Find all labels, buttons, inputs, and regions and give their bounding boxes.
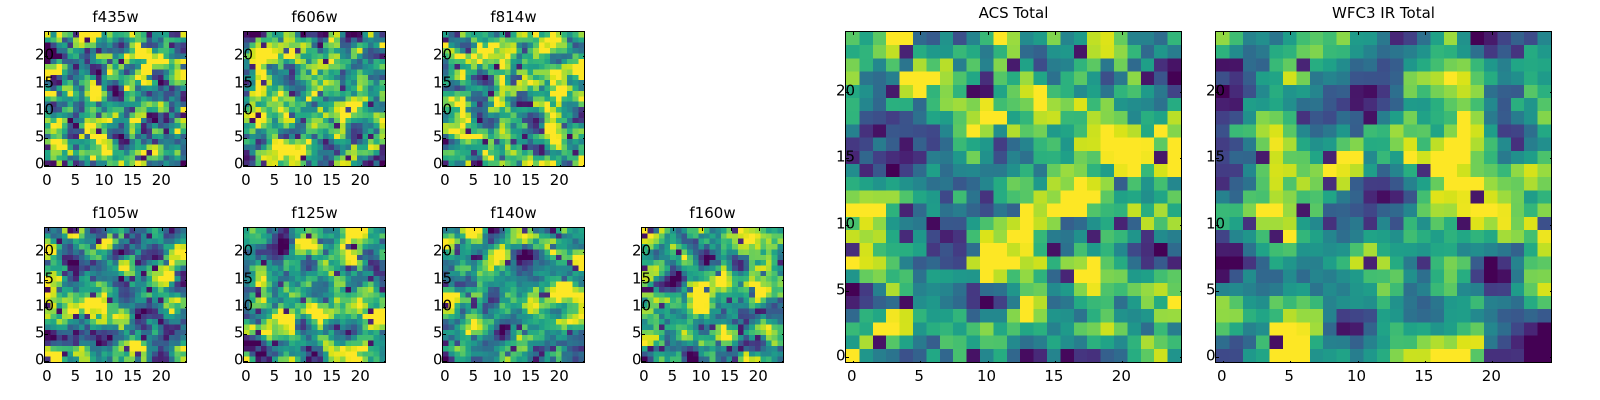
x-tick-f814w-0: [446, 165, 447, 167]
heatmap-f140w: [442, 227, 585, 363]
y-tick-right-f814w-0: [583, 165, 585, 166]
y-tick-right-acs-total-10: [1180, 225, 1182, 226]
x-tick-f125w-0: [247, 361, 248, 363]
x-tick-wfc3-ir-total-10: [1358, 361, 1359, 363]
heatmap-f125w: [243, 227, 386, 363]
heatmap-canvas-f435w: [45, 32, 186, 166]
x-ticklabel-f606w-5: 5: [270, 173, 280, 188]
x-tick-top-f160w-0: [645, 228, 646, 231]
x-ticklabel-f125w-0: 0: [241, 369, 251, 384]
y-tick-right-f606w-15: [384, 84, 386, 85]
x-tick-top-f125w-5: [275, 228, 276, 231]
x-tick-f140w-5: [474, 361, 475, 363]
panel-f160w: f160w0510152005101520: [641, 227, 784, 363]
x-tick-acs-total-15: [1055, 361, 1056, 363]
y-tick-right-wfc3-ir-total-15: [1550, 158, 1552, 159]
heatmap-canvas-f140w: [443, 228, 584, 362]
y-tick-right-acs-total-20: [1180, 92, 1182, 93]
heatmap-canvas-f125w: [244, 228, 385, 362]
y-tick-right-f160w-20: [782, 252, 784, 253]
y-tick-right-f814w-5: [583, 138, 585, 139]
x-tick-top-f140w-15: [532, 228, 533, 231]
y-tick-f160w-5: [642, 334, 645, 335]
x-tick-top-f435w-0: [48, 32, 49, 35]
y-tick-right-f160w-0: [782, 361, 784, 362]
x-tick-acs-total-5: [920, 361, 921, 363]
x-tick-f606w-5: [275, 165, 276, 167]
y-tick-f606w-5: [244, 138, 247, 139]
x-tick-f105w-10: [105, 361, 106, 363]
x-tick-f814w-5: [474, 165, 475, 167]
x-ticklabel-f105w-20: 20: [152, 369, 171, 384]
x-tick-top-acs-total-10: [988, 32, 989, 35]
y-tick-f125w-0: [244, 361, 247, 362]
x-ticklabel-f125w-15: 15: [322, 369, 341, 384]
y-tick-f160w-0: [642, 361, 645, 362]
x-tick-top-f814w-15: [532, 32, 533, 35]
y-tick-right-f105w-10: [185, 307, 187, 308]
y-tick-right-f435w-15: [185, 84, 187, 85]
y-tick-f140w-0: [443, 361, 446, 362]
x-tick-f105w-5: [76, 361, 77, 363]
x-ticklabel-f606w-20: 20: [351, 173, 370, 188]
y-tick-right-f140w-5: [583, 334, 585, 335]
x-tick-f125w-10: [304, 361, 305, 363]
x-ticklabel-f125w-10: 10: [294, 369, 313, 384]
panel-title-acs-total: ACS Total: [845, 5, 1182, 22]
x-tick-top-f160w-15: [731, 228, 732, 231]
x-tick-top-f105w-15: [134, 228, 135, 231]
x-ticklabel-f105w-5: 5: [71, 369, 81, 384]
x-ticklabel-acs-total-20: 20: [1112, 369, 1131, 384]
panel-f606w: f606w0510152005101520: [243, 31, 386, 167]
y-tick-right-f125w-10: [384, 307, 386, 308]
x-tick-top-f435w-5: [76, 32, 77, 35]
x-tick-f125w-15: [333, 361, 334, 363]
x-tick-top-f140w-5: [474, 228, 475, 231]
x-ticklabel-wfc3-ir-total-20: 20: [1482, 369, 1501, 384]
x-ticklabel-f160w-10: 10: [692, 369, 711, 384]
y-tick-right-f125w-0: [384, 361, 386, 362]
y-tick-right-f105w-5: [185, 334, 187, 335]
y-tick-right-f435w-5: [185, 138, 187, 139]
heatmap-canvas-acs-total: [846, 32, 1181, 362]
x-tick-top-f160w-10: [702, 228, 703, 231]
x-ticklabel-f125w-20: 20: [351, 369, 370, 384]
x-tick-f160w-0: [645, 361, 646, 363]
x-ticklabel-f435w-15: 15: [123, 173, 142, 188]
heatmap-canvas-wfc3-ir-total: [1216, 32, 1551, 362]
y-tick-right-f814w-10: [583, 111, 585, 112]
x-ticklabel-f814w-20: 20: [550, 173, 569, 188]
x-tick-top-f105w-10: [105, 228, 106, 231]
x-tick-top-f606w-10: [304, 32, 305, 35]
x-ticklabel-f814w-5: 5: [469, 173, 479, 188]
x-tick-top-f125w-15: [333, 228, 334, 231]
panel-title-f435w: f435w: [44, 9, 187, 26]
heatmap-f814w: [442, 31, 585, 167]
y-tick-right-f125w-15: [384, 280, 386, 281]
x-tick-f125w-5: [275, 361, 276, 363]
x-tick-top-acs-total-0: [853, 32, 854, 35]
y-tick-right-f160w-10: [782, 307, 784, 308]
x-tick-f140w-0: [446, 361, 447, 363]
x-tick-top-f606w-0: [247, 32, 248, 35]
y-tick-f606w-0: [244, 165, 247, 166]
y-tick-right-wfc3-ir-total-0: [1550, 357, 1552, 358]
x-ticklabel-f140w-20: 20: [550, 369, 569, 384]
heatmap-f160w: [641, 227, 784, 363]
heatmap-canvas-f814w: [443, 32, 584, 166]
panel-f105w: f105w0510152005101520: [44, 227, 187, 363]
y-tick-f814w-5: [443, 138, 446, 139]
y-tick-right-f140w-20: [583, 252, 585, 253]
x-tick-top-f606w-5: [275, 32, 276, 35]
x-tick-top-f814w-20: [560, 32, 561, 35]
x-ticklabel-acs-total-5: 5: [914, 369, 924, 384]
figure-canvas: f435w0510152005101520f606w05101520051015…: [0, 0, 1600, 400]
x-ticklabel-f606w-0: 0: [241, 173, 251, 188]
x-ticklabel-f814w-15: 15: [521, 173, 540, 188]
x-tick-acs-total-20: [1122, 361, 1123, 363]
x-ticklabel-f105w-15: 15: [123, 369, 142, 384]
x-tick-acs-total-0: [853, 361, 854, 363]
x-ticklabel-f160w-15: 15: [720, 369, 739, 384]
x-tick-top-f105w-5: [76, 228, 77, 231]
x-tick-top-f140w-0: [446, 228, 447, 231]
x-tick-top-wfc3-ir-total-15: [1425, 32, 1426, 35]
x-ticklabel-acs-total-15: 15: [1044, 369, 1063, 384]
x-tick-top-f125w-10: [304, 228, 305, 231]
panel-f814w: f814w0510152005101520: [442, 31, 585, 167]
x-tick-f140w-20: [560, 361, 561, 363]
y-tick-right-f125w-5: [384, 334, 386, 335]
x-tick-f160w-10: [702, 361, 703, 363]
x-ticklabel-f160w-0: 0: [639, 369, 649, 384]
y-tick-right-f140w-10: [583, 307, 585, 308]
x-tick-top-f814w-10: [503, 32, 504, 35]
x-tick-top-f435w-10: [105, 32, 106, 35]
x-tick-top-wfc3-ir-total-20: [1492, 32, 1493, 35]
y-tick-right-f105w-0: [185, 361, 187, 362]
heatmap-canvas-f160w: [642, 228, 783, 362]
y-tick-f435w-5: [45, 138, 48, 139]
heatmap-wfc3-ir-total: [1215, 31, 1552, 363]
y-tick-right-f435w-20: [185, 56, 187, 57]
panel-title-f814w: f814w: [442, 9, 585, 26]
x-tick-f105w-15: [134, 361, 135, 363]
x-tick-f435w-15: [134, 165, 135, 167]
panel-title-f140w: f140w: [442, 205, 585, 222]
y-tick-right-f160w-5: [782, 334, 784, 335]
x-tick-top-f140w-10: [503, 228, 504, 231]
y-tick-right-f814w-15: [583, 84, 585, 85]
y-tick-wfc3-ir-total-0: [1216, 357, 1219, 358]
y-tick-right-acs-total-15: [1180, 158, 1182, 159]
x-tick-top-acs-total-15: [1055, 32, 1056, 35]
x-ticklabel-acs-total-0: 0: [847, 369, 857, 384]
x-tick-f105w-0: [48, 361, 49, 363]
y-tick-right-f606w-20: [384, 56, 386, 57]
x-tick-wfc3-ir-total-5: [1290, 361, 1291, 363]
x-ticklabel-f105w-0: 0: [42, 369, 52, 384]
x-tick-top-wfc3-ir-total-5: [1290, 32, 1291, 35]
x-tick-f814w-15: [532, 165, 533, 167]
x-tick-f814w-10: [503, 165, 504, 167]
x-tick-top-wfc3-ir-total-0: [1223, 32, 1224, 35]
x-ticklabel-f435w-5: 5: [71, 173, 81, 188]
y-tick-right-acs-total-0: [1180, 357, 1182, 358]
heatmap-acs-total: [845, 31, 1182, 363]
x-ticklabel-f606w-10: 10: [294, 173, 313, 188]
x-ticklabel-f125w-5: 5: [270, 369, 280, 384]
x-tick-top-f606w-20: [361, 32, 362, 35]
y-tick-right-f140w-0: [583, 361, 585, 362]
x-tick-top-f105w-20: [162, 228, 163, 231]
x-tick-top-f125w-0: [247, 228, 248, 231]
heatmap-canvas-f606w: [244, 32, 385, 166]
panel-title-wfc3-ir-total: WFC3 IR Total: [1215, 5, 1552, 22]
x-tick-f606w-15: [333, 165, 334, 167]
x-tick-f140w-15: [532, 361, 533, 363]
y-tick-right-acs-total-5: [1180, 291, 1182, 292]
y-tick-f105w-5: [45, 334, 48, 335]
y-tick-right-f435w-10: [185, 111, 187, 112]
x-tick-top-f160w-5: [673, 228, 674, 231]
x-ticklabel-wfc3-ir-total-0: 0: [1217, 369, 1227, 384]
x-tick-top-acs-total-5: [920, 32, 921, 35]
x-ticklabel-f606w-15: 15: [322, 173, 341, 188]
x-ticklabel-f814w-10: 10: [493, 173, 512, 188]
x-tick-top-f140w-20: [560, 228, 561, 231]
x-tick-f435w-10: [105, 165, 106, 167]
x-tick-top-wfc3-ir-total-10: [1358, 32, 1359, 35]
x-ticklabel-f140w-15: 15: [521, 369, 540, 384]
y-tick-right-f105w-15: [185, 280, 187, 281]
x-ticklabel-f435w-20: 20: [152, 173, 171, 188]
x-ticklabel-acs-total-10: 10: [977, 369, 996, 384]
x-ticklabel-f140w-10: 10: [493, 369, 512, 384]
panel-f140w: f140w0510152005101520: [442, 227, 585, 363]
x-tick-top-f160w-20: [759, 228, 760, 231]
panel-f435w: f435w0510152005101520: [44, 31, 187, 167]
x-tick-f435w-5: [76, 165, 77, 167]
x-tick-f125w-20: [361, 361, 362, 363]
x-ticklabel-f435w-10: 10: [95, 173, 114, 188]
x-tick-wfc3-ir-total-0: [1223, 361, 1224, 363]
panel-title-f125w: f125w: [243, 205, 386, 222]
x-tick-top-f814w-5: [474, 32, 475, 35]
y-tick-acs-total-0: [846, 357, 849, 358]
x-ticklabel-f105w-10: 10: [95, 369, 114, 384]
y-tick-right-f814w-20: [583, 56, 585, 57]
heatmap-f105w: [44, 227, 187, 363]
x-tick-f435w-20: [162, 165, 163, 167]
y-tick-wfc3-ir-total-5: [1216, 291, 1219, 292]
y-tick-acs-total-5: [846, 291, 849, 292]
x-ticklabel-f814w-0: 0: [440, 173, 450, 188]
y-tick-right-f435w-0: [185, 165, 187, 166]
x-tick-f160w-5: [673, 361, 674, 363]
y-tick-right-wfc3-ir-total-10: [1550, 225, 1552, 226]
x-ticklabel-f160w-5: 5: [668, 369, 678, 384]
x-tick-top-f435w-15: [134, 32, 135, 35]
heatmap-f606w: [243, 31, 386, 167]
x-tick-wfc3-ir-total-15: [1425, 361, 1426, 363]
x-ticklabel-f435w-0: 0: [42, 173, 52, 188]
x-tick-f435w-0: [48, 165, 49, 167]
panel-title-f105w: f105w: [44, 205, 187, 222]
x-ticklabel-wfc3-ir-total-10: 10: [1347, 369, 1366, 384]
x-tick-f160w-20: [759, 361, 760, 363]
x-tick-wfc3-ir-total-20: [1492, 361, 1493, 363]
panel-wfc3-ir-total: WFC3 IR Total0510152005101520: [1215, 31, 1552, 363]
x-tick-top-f105w-0: [48, 228, 49, 231]
x-tick-top-f125w-20: [361, 228, 362, 231]
y-tick-f105w-0: [45, 361, 48, 362]
x-tick-f606w-0: [247, 165, 248, 167]
x-ticklabel-wfc3-ir-total-15: 15: [1414, 369, 1433, 384]
panel-title-f160w: f160w: [641, 205, 784, 222]
y-tick-right-wfc3-ir-total-20: [1550, 92, 1552, 93]
x-tick-top-acs-total-20: [1122, 32, 1123, 35]
y-tick-right-f140w-15: [583, 280, 585, 281]
x-ticklabel-wfc3-ir-total-5: 5: [1284, 369, 1294, 384]
y-tick-right-wfc3-ir-total-5: [1550, 291, 1552, 292]
y-tick-right-f606w-10: [384, 111, 386, 112]
y-tick-f814w-0: [443, 165, 446, 166]
y-tick-right-f606w-5: [384, 138, 386, 139]
x-tick-f160w-15: [731, 361, 732, 363]
x-tick-top-f814w-0: [446, 32, 447, 35]
y-tick-f435w-0: [45, 165, 48, 166]
heatmap-canvas-f105w: [45, 228, 186, 362]
x-tick-f606w-20: [361, 165, 362, 167]
panel-acs-total: ACS Total0510152005101520: [845, 31, 1182, 363]
x-tick-top-f606w-15: [333, 32, 334, 35]
y-tick-f125w-5: [244, 334, 247, 335]
y-tick-right-f606w-0: [384, 165, 386, 166]
y-tick-f140w-5: [443, 334, 446, 335]
y-tick-right-f160w-15: [782, 280, 784, 281]
y-tick-right-f105w-20: [185, 252, 187, 253]
y-tick-right-f125w-20: [384, 252, 386, 253]
panel-title-f606w: f606w: [243, 9, 386, 26]
x-tick-f606w-10: [304, 165, 305, 167]
x-ticklabel-f140w-5: 5: [469, 369, 479, 384]
heatmap-f435w: [44, 31, 187, 167]
x-tick-top-f435w-20: [162, 32, 163, 35]
x-ticklabel-f140w-0: 0: [440, 369, 450, 384]
x-tick-f140w-10: [503, 361, 504, 363]
x-tick-f105w-20: [162, 361, 163, 363]
panel-f125w: f125w0510152005101520: [243, 227, 386, 363]
x-tick-f814w-20: [560, 165, 561, 167]
x-ticklabel-f160w-20: 20: [749, 369, 768, 384]
x-tick-acs-total-10: [988, 361, 989, 363]
